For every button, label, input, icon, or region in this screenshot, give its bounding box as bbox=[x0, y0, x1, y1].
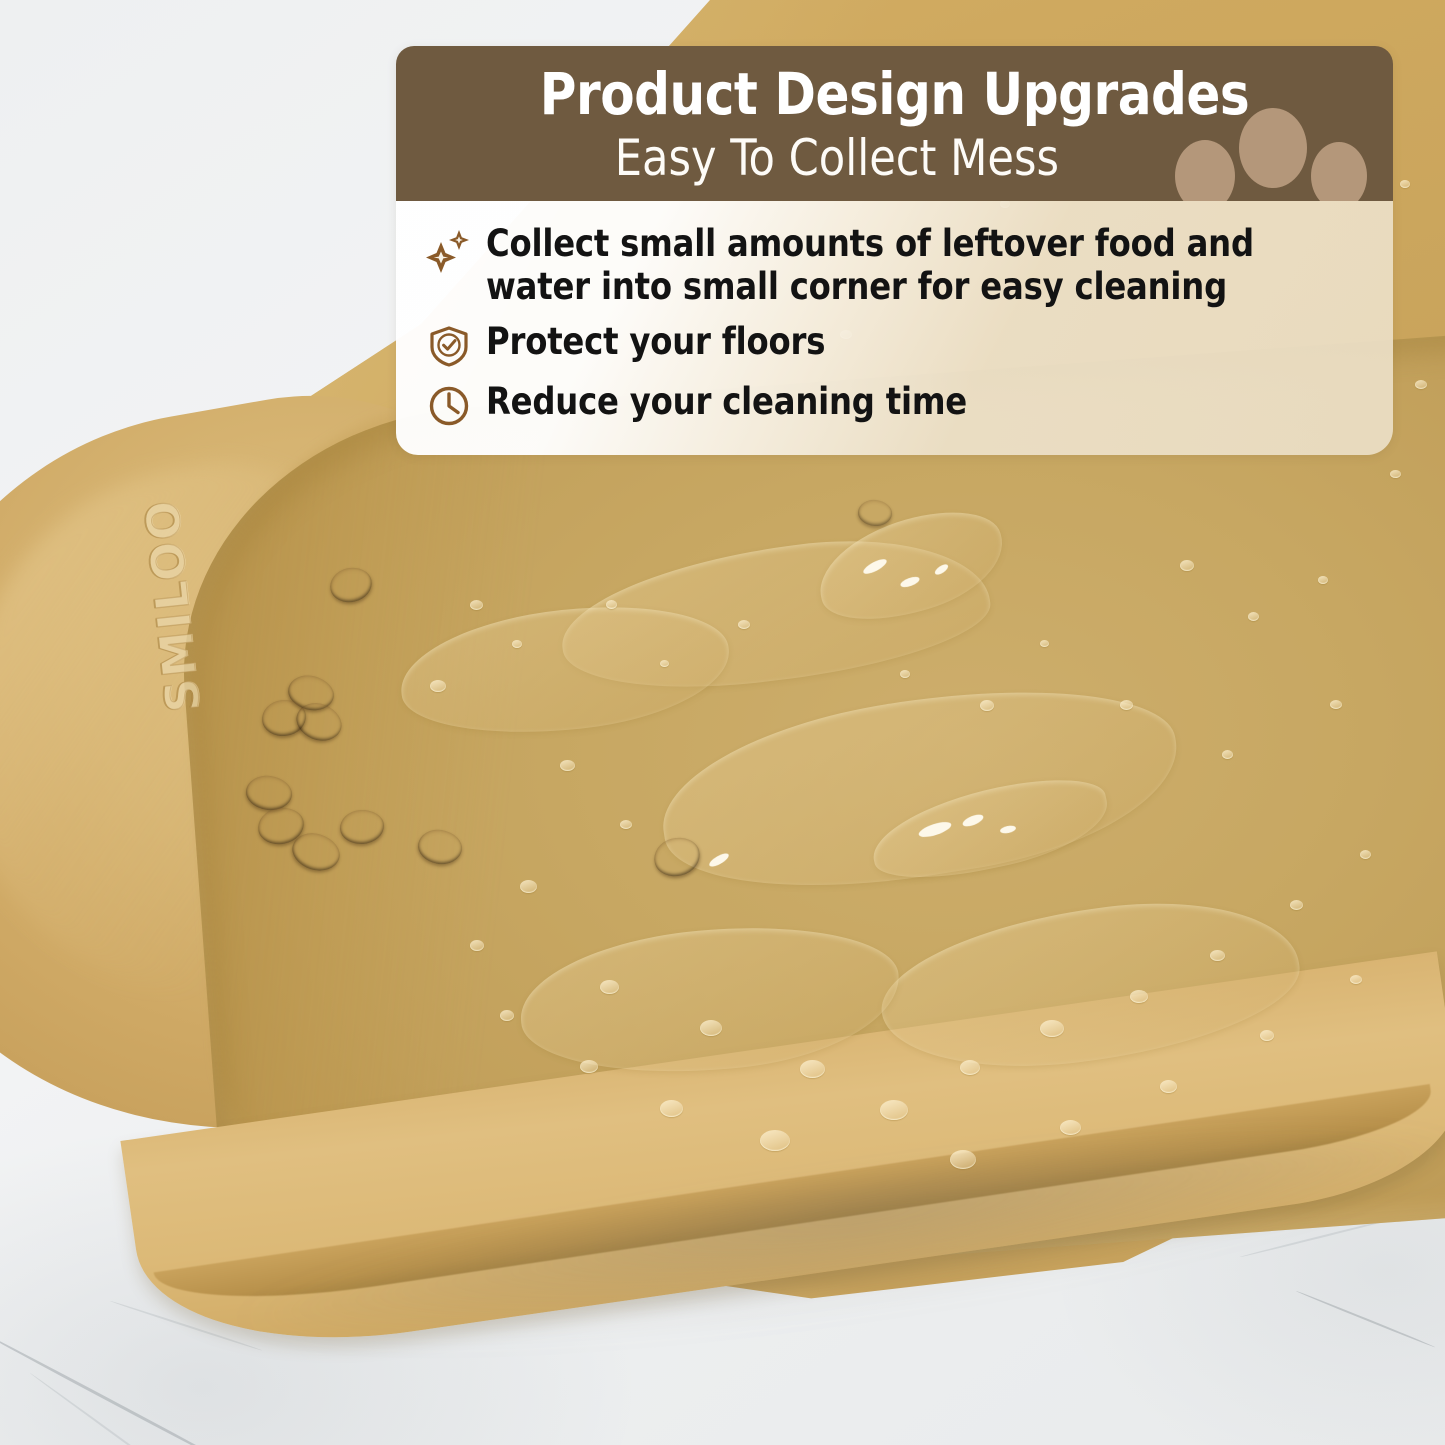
feature-bullet-text: Reduce your cleaning time bbox=[486, 381, 967, 424]
card-title: Product Design Upgrades bbox=[441, 64, 1348, 125]
product-feature-image: SMILOO bbox=[0, 0, 1445, 1445]
feature-info-card: Product Design Upgrades Easy To Collect … bbox=[396, 46, 1393, 455]
feature-bullet-text: Collect small amounts of leftover food a… bbox=[486, 223, 1341, 309]
card-subtitle: Easy To Collect Mess bbox=[441, 131, 1348, 185]
shield-check-icon bbox=[426, 323, 472, 369]
card-body: Collect small amounts of leftover food a… bbox=[396, 201, 1393, 455]
feature-bullet-text: Protect your floors bbox=[486, 321, 825, 364]
feature-bullet: Reduce your cleaning time bbox=[426, 381, 1367, 429]
feature-bullet: Collect small amounts of leftover food a… bbox=[426, 223, 1367, 309]
feature-bullet: Protect your floors bbox=[426, 321, 1367, 369]
sparkle-icon bbox=[426, 229, 472, 275]
card-header: Product Design Upgrades Easy To Collect … bbox=[396, 46, 1393, 201]
clock-icon bbox=[426, 383, 472, 429]
